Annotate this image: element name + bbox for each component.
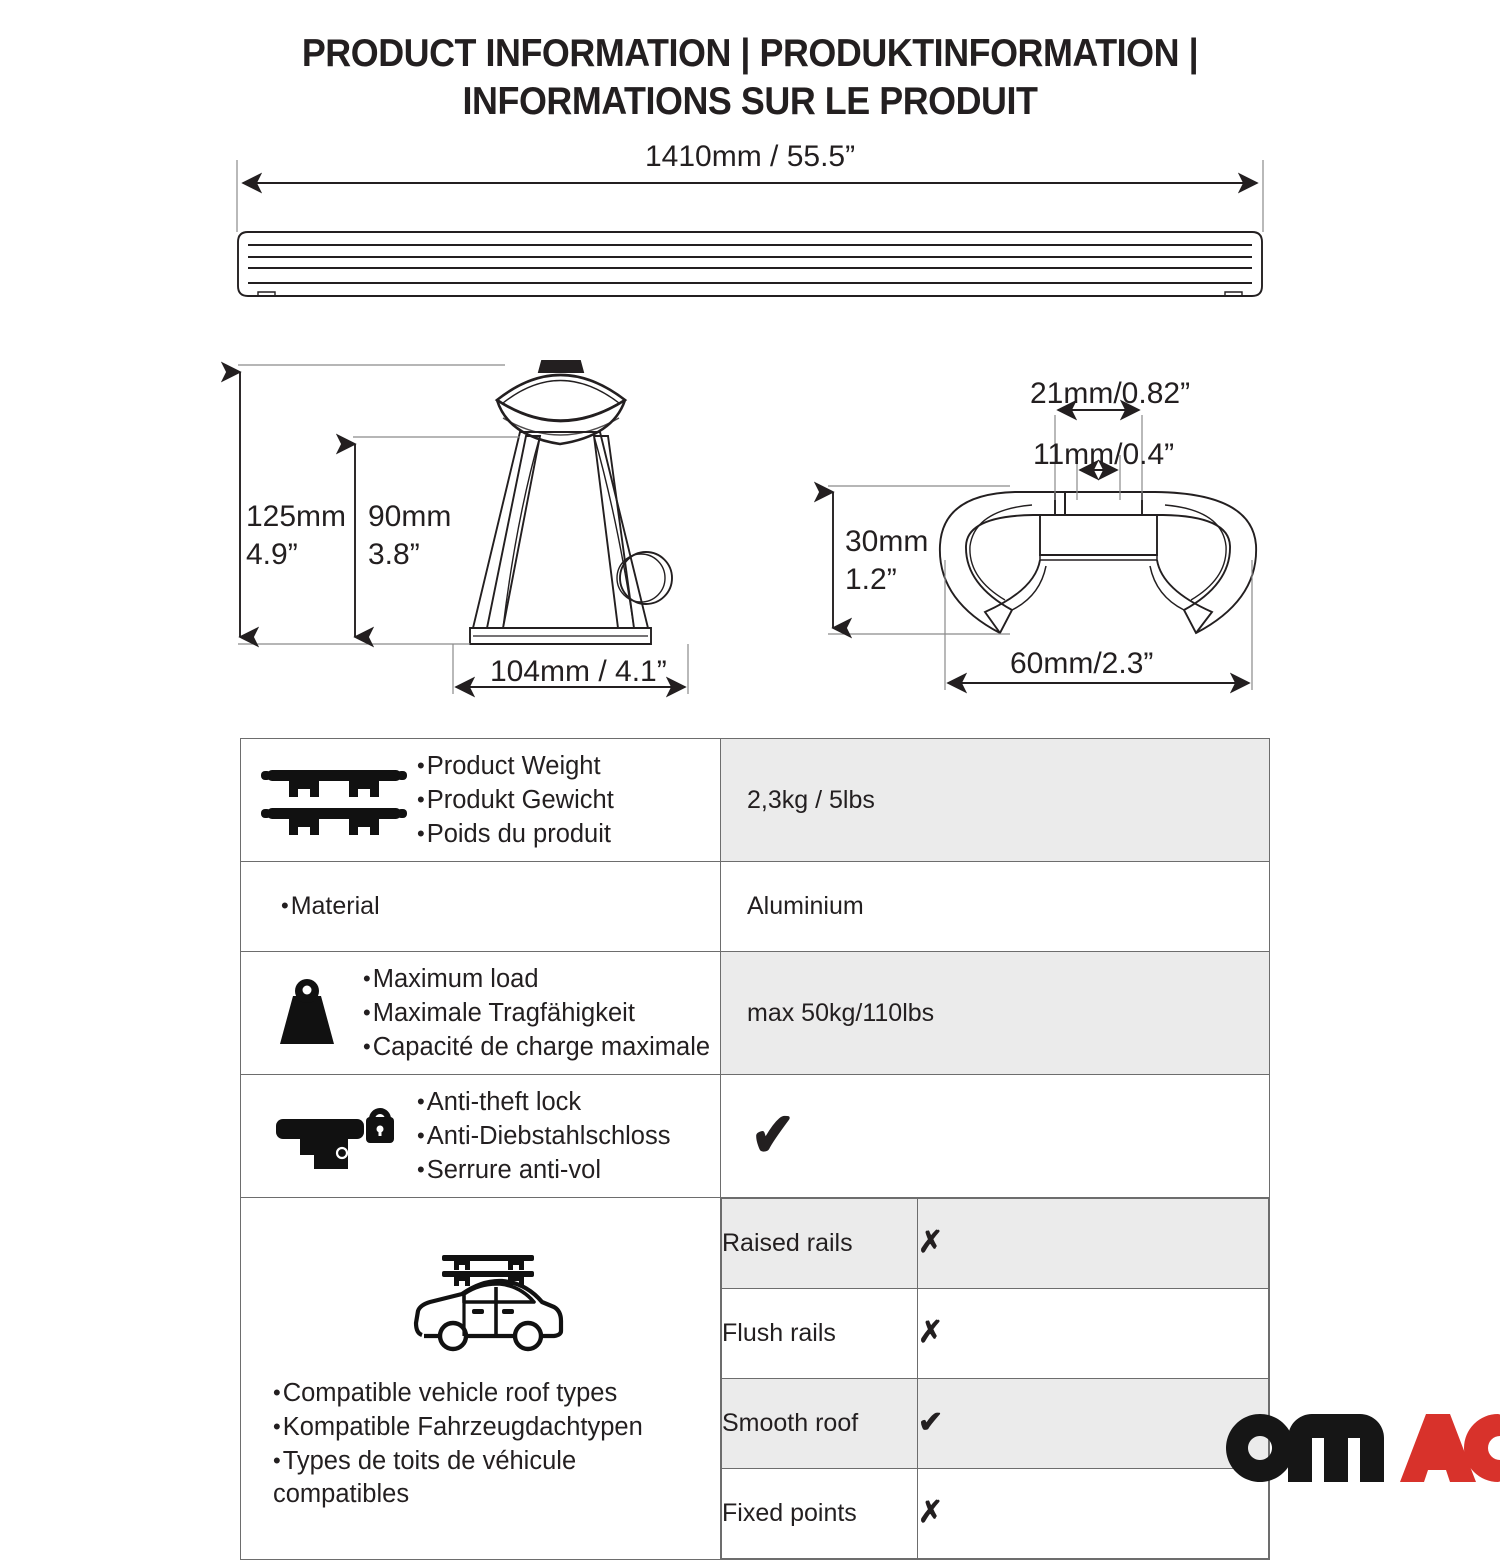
spec-label-roof-types: Compatible vehicle roof types Kompatible… [241, 1198, 721, 1560]
dim-tower-height-inner-mm: 90mm [368, 498, 451, 536]
roof-type-support: ✔ [918, 1379, 1269, 1469]
dim-profile-height: 30mm 1.2” [845, 523, 928, 599]
dim-slot-inner: 11mm/0.4” [1033, 436, 1174, 474]
roof-type-support: ✗ [918, 1199, 1269, 1289]
label-de: Produkt Gewicht [417, 783, 614, 817]
roof-type-name: Fixed points [722, 1469, 918, 1559]
lock-icon [259, 1097, 409, 1175]
spec-label-roof-types-lines: Compatible vehicle roof types Kompatible… [273, 1376, 643, 1511]
spec-label-lock-lines: Anti-theft lock Anti-Diebstahlschloss Se… [417, 1085, 670, 1187]
roof-type-row: Fixed points ✗ [722, 1469, 1269, 1559]
table-row: Compatible vehicle roof types Kompatible… [241, 1198, 1270, 1560]
label-fr: Poids du produit [417, 817, 614, 851]
label-fr: Capacité de charge maximale [363, 1030, 710, 1064]
dim-slot-outer: 21mm/0.82” [1030, 375, 1190, 413]
label-en: Product Weight [417, 749, 614, 783]
dim-profile-width: 60mm/2.3” [1010, 645, 1153, 683]
label-en: Compatible vehicle roof types [273, 1376, 643, 1410]
roof-type-support: ✗ [918, 1469, 1269, 1559]
dim-tower-height-inner-in: 3.8” [368, 536, 451, 574]
spec-value-weight: 2,3kg / 5lbs [721, 739, 1270, 862]
omac-logo-dark-part [1226, 1414, 1384, 1482]
dim-tower-height-total-mm: 125mm [246, 498, 346, 536]
table-row: Maximum load Maximale Tragfähigkeit Capa… [241, 952, 1270, 1075]
cross-mark: ✗ [918, 1496, 943, 1529]
roof-types-table: Raised rails ✗ Flush rails ✗ [721, 1198, 1269, 1559]
check-mark: ✔ [751, 1105, 795, 1167]
spec-label-weight: Product Weight Produkt Gewicht Poids du … [241, 739, 721, 862]
omac-logo [1222, 1412, 1500, 1484]
spec-value-lock: ✔ [721, 1075, 1270, 1198]
label-de: Kompatible Fahrzeugdachtypen [273, 1410, 643, 1444]
table-row: Anti-theft lock Anti-Diebstahlschloss Se… [241, 1075, 1270, 1198]
title-line-1: PRODUCT INFORMATION | PRODUKTINFORMATION… [60, 30, 1440, 78]
label-de: Anti-Diebstahlschloss [417, 1119, 670, 1153]
table-row: Product Weight Produkt Gewicht Poids du … [241, 739, 1270, 862]
label-fr: Serrure anti-vol [417, 1153, 670, 1187]
roof-bar-side-view [238, 232, 1262, 296]
spec-label-material: Material [241, 862, 721, 952]
page-title: PRODUCT INFORMATION | PRODUKTINFORMATION… [0, 30, 1500, 126]
dim-profile-height-mm: 30mm [845, 523, 928, 561]
dim-tower-height-inner: 90mm 3.8” [368, 498, 451, 574]
spec-value-maxload: max 50kg/110lbs [721, 952, 1270, 1075]
roof-type-name: Smooth roof [722, 1379, 918, 1469]
weight-icon [259, 974, 355, 1052]
roof-type-name: Raised rails [722, 1199, 918, 1289]
roof-type-row: Flush rails ✗ [722, 1289, 1269, 1379]
label-fr: Types de toits de véhicule [273, 1444, 643, 1478]
title-line-2: INFORMATIONS SUR LE PRODUIT [60, 78, 1440, 126]
product-spec-table: Product Weight Produkt Gewicht Poids du … [240, 738, 1270, 1560]
bar-profile-cross-section [940, 492, 1256, 633]
label-en: Maximum load [363, 962, 710, 996]
roof-bars-icon [259, 762, 409, 838]
cross-mark: ✗ [918, 1226, 943, 1259]
dim-tower-height-total: 125mm 4.9” [246, 498, 346, 574]
spec-label-maxload: Maximum load Maximale Tragfähigkeit Capa… [241, 952, 721, 1075]
roof-type-support: ✗ [918, 1289, 1269, 1379]
omac-logo-red-part [1400, 1414, 1500, 1482]
roof-type-row: Smooth roof ✔ [722, 1379, 1269, 1469]
tower-front-view [470, 361, 672, 644]
label-en: Anti-theft lock [417, 1085, 670, 1119]
spec-label-weight-lines: Product Weight Produkt Gewicht Poids du … [417, 749, 614, 851]
table-row: Material Aluminium [241, 862, 1270, 952]
cross-mark: ✗ [918, 1316, 943, 1349]
label-en: Material [281, 892, 380, 920]
label-de: Maximale Tragfähigkeit [363, 996, 710, 1030]
spec-label-lock: Anti-theft lock Anti-Diebstahlschloss Se… [241, 1075, 721, 1198]
dim-bar-length: 1410mm / 55.5” [645, 138, 855, 176]
roof-type-row: Raised rails ✗ [722, 1199, 1269, 1289]
roof-type-name: Flush rails [722, 1289, 918, 1379]
spec-value-material: Aluminium [721, 862, 1270, 952]
label-fr-cont: compatibles [273, 1478, 643, 1511]
dim-profile-height-in: 1.2” [845, 561, 928, 599]
car-with-bars-icon [404, 1247, 569, 1366]
spec-label-maxload-lines: Maximum load Maximale Tragfähigkeit Capa… [363, 962, 710, 1064]
check-mark: ✔ [918, 1406, 943, 1439]
roof-types-subtable-cell: Raised rails ✗ Flush rails ✗ [721, 1198, 1270, 1560]
dim-tower-height-total-in: 4.9” [246, 536, 346, 574]
dim-tower-width: 104mm / 4.1” [490, 653, 667, 691]
